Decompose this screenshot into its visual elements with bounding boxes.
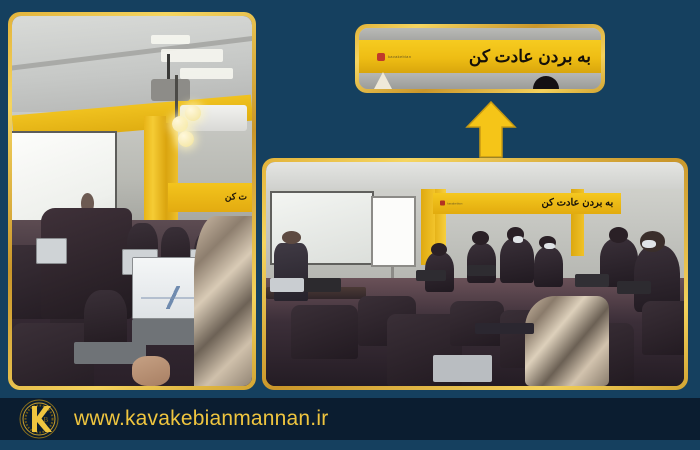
table <box>475 323 534 334</box>
pendant-lamp <box>172 116 188 132</box>
banner-photo-image: kavakebian به بردن عادت کن <box>359 28 601 89</box>
footer-content: B www.kavakebianmannan.ir <box>18 398 328 440</box>
brand-mark-text: kavakebian <box>388 54 411 59</box>
chair <box>642 301 684 355</box>
wall-slogan-text: ت کن <box>225 192 247 203</box>
pendant-lamp <box>178 131 194 147</box>
svg-text:B: B <box>44 416 49 424</box>
wall-lower <box>359 73 601 89</box>
patterned-scarf <box>525 296 609 386</box>
face-mask <box>513 236 524 243</box>
laptop <box>304 278 342 291</box>
ceiling-light <box>161 49 223 62</box>
photo-panel-banner[interactable]: kavakebian به بردن عادت کن <box>355 24 605 93</box>
projector <box>151 79 189 101</box>
laptop <box>416 270 445 281</box>
laptop <box>575 274 608 287</box>
chair <box>291 305 358 359</box>
pendant-lamp <box>185 105 201 121</box>
yellow-slogan-strip: kavakebian به بردن عادت کن <box>359 40 601 73</box>
wall-slogan-banner: kavakebian به بردن عادت کن <box>433 193 621 213</box>
student <box>500 238 533 283</box>
hand <box>132 356 170 386</box>
lamp-wire <box>175 75 178 119</box>
student <box>534 247 563 287</box>
brand-mark-group: kavakebian <box>377 53 411 61</box>
student-head <box>609 227 628 243</box>
brand-square-icon <box>377 53 385 61</box>
laptop-open <box>433 355 492 382</box>
patterned-scarf <box>194 216 252 386</box>
photo-right-image: kavakebian به بردن عادت کن <box>266 162 684 386</box>
student <box>467 243 496 283</box>
instructor <box>274 243 307 301</box>
photo-panel-right[interactable]: kavakebian به بردن عادت کن <box>262 158 688 390</box>
paper-flag <box>374 72 392 89</box>
student-head <box>472 231 489 244</box>
person-head <box>533 76 559 89</box>
laptop <box>270 278 303 291</box>
website-url[interactable]: www.kavakebianmannan.ir <box>74 407 328 431</box>
photo-panel-left[interactable]: ت کن <box>8 12 256 390</box>
brand-mark-group: kavakebian <box>440 201 462 206</box>
flipchart <box>371 196 417 267</box>
brand-square-icon <box>440 201 445 206</box>
banner-slogan-text: به بردن عادت کن <box>469 47 591 67</box>
laptop <box>36 238 67 264</box>
laptop <box>467 265 496 276</box>
brand-mark-text: kavakebian <box>447 201 462 205</box>
k-seal-logo[interactable]: B <box>18 398 60 440</box>
photo-left-image: ت کن <box>12 16 252 386</box>
poster-canvas: ت کن <box>0 0 700 450</box>
arrow-up-icon <box>465 100 517 158</box>
ceiling-light <box>180 68 233 79</box>
student <box>84 290 127 349</box>
footer-bar: B www.kavakebianmannan.ir <box>0 398 700 440</box>
wall-slogan-banner: ت کن <box>168 183 252 213</box>
wall-slogan-text: به بردن عادت کن <box>541 198 613 209</box>
ceiling-light <box>151 35 189 44</box>
laptop <box>617 281 650 294</box>
